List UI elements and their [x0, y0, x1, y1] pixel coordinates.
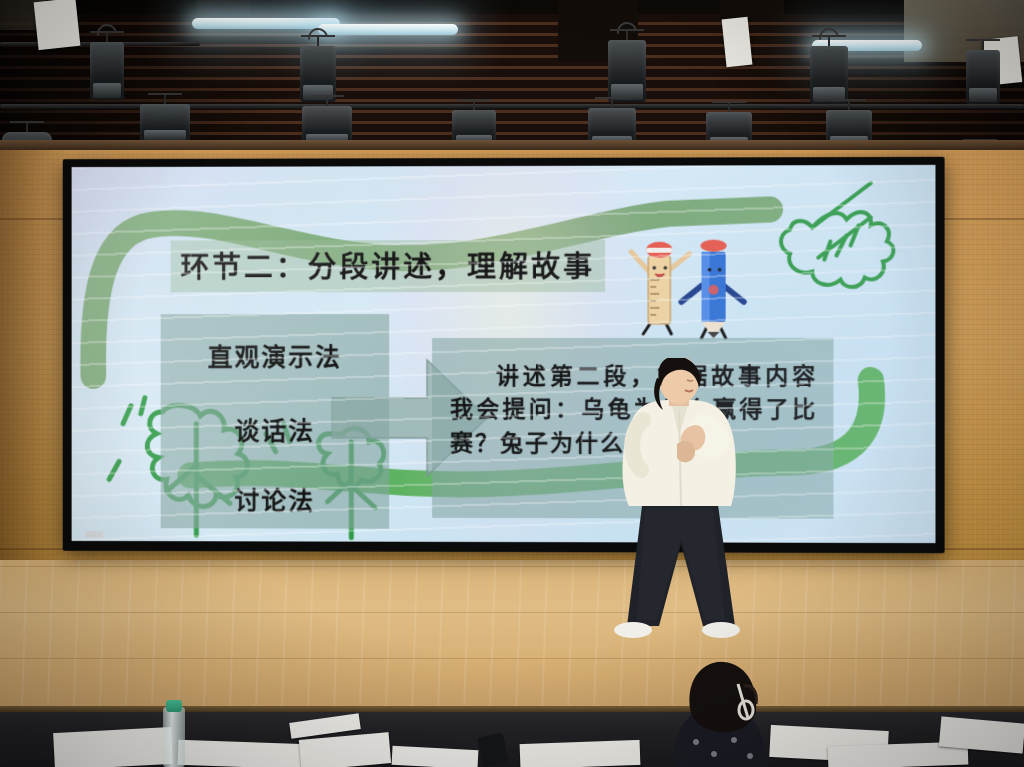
projection-screen: 环节二：分段讲述，理解故事	[72, 165, 936, 543]
hanging-card	[722, 17, 753, 67]
mascot-characters	[621, 228, 752, 340]
water-bottle	[163, 707, 185, 767]
method-item-1: 直观演示法	[161, 338, 390, 374]
stage-light	[966, 50, 1000, 104]
paper-sheet	[178, 740, 309, 767]
fluorescent-tube	[318, 24, 458, 35]
leaf-doodle	[781, 183, 893, 287]
floor-board-line	[0, 566, 1024, 567]
bottle-cap	[166, 700, 182, 712]
stage-light	[90, 42, 124, 100]
paper-sheet	[53, 727, 173, 767]
floor-board-line	[0, 658, 1024, 659]
paper-sheet	[520, 740, 641, 767]
slide-title: 环节二：分段讲述，理解故事	[171, 240, 606, 292]
projection-screen-frame: 环节二：分段讲述，理解故事	[63, 157, 945, 553]
stage-light	[300, 46, 336, 102]
hanging-card	[34, 0, 81, 50]
stage-light	[140, 104, 190, 142]
stage-light	[810, 46, 848, 104]
method-item-3: 讨论法	[161, 481, 390, 517]
screenshot-root: 环节二：分段讲述，理解故事	[0, 0, 1024, 767]
screen-corner-tab	[85, 531, 103, 538]
presenter	[585, 358, 775, 650]
stage-light	[608, 40, 646, 102]
method-item-2: 谈话法	[161, 412, 390, 448]
methods-box: 直观演示法 谈话法 讨论法	[161, 314, 390, 529]
ceiling-beam	[196, 0, 250, 20]
ruler-character	[631, 242, 689, 334]
stage-floor	[0, 560, 1024, 720]
paper-sheet	[392, 746, 479, 767]
floor-board-line	[0, 612, 1024, 613]
